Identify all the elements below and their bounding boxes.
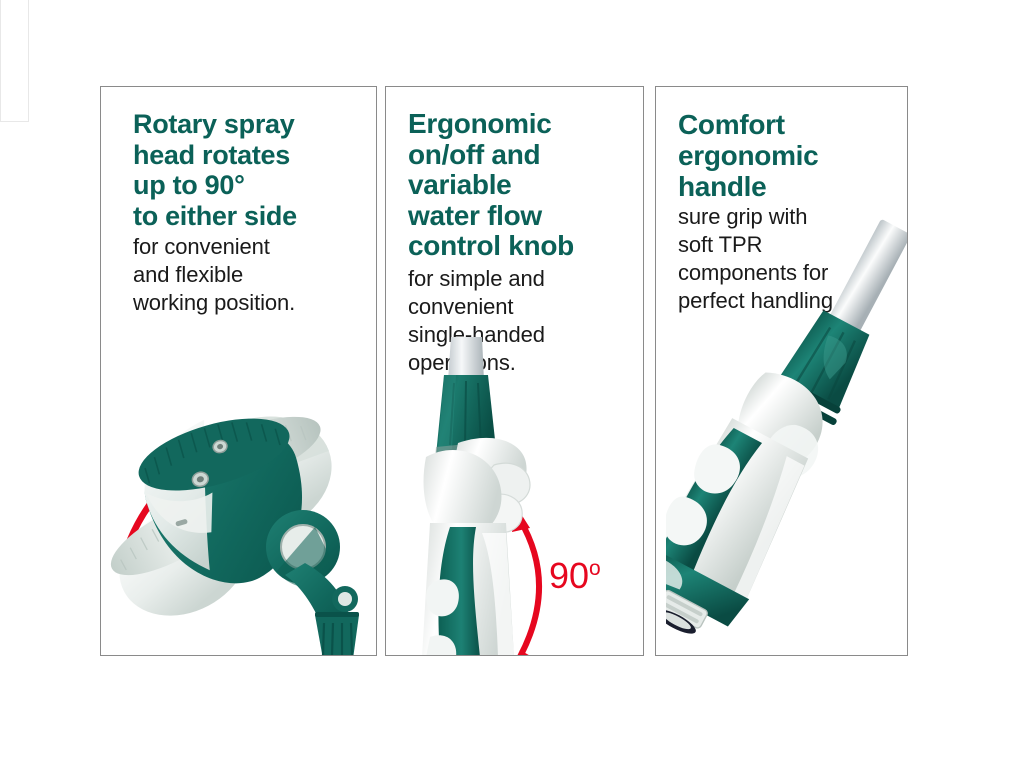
- panel-2-text-block: Ergonomic on/off and variable water flow…: [386, 87, 643, 377]
- corner-placeholder-box: [0, 0, 29, 122]
- panel-1-text-block: Rotary spray head rotates up to 90° to e…: [101, 87, 376, 317]
- feature-panel-group: Rotary spray head rotates up to 90° to e…: [100, 86, 908, 656]
- product-image-spray-head: [109, 367, 377, 656]
- product-image-flow-knob: [396, 337, 566, 656]
- feature-panel-flow-control-knob: Ergonomic on/off and variable water flow…: [385, 86, 644, 656]
- degree-symbol-icon: o: [589, 557, 601, 580]
- panel-2-headline: Ergonomic on/off and variable water flow…: [408, 109, 633, 262]
- panel-1-headline: Rotary spray head rotates up to 90° to e…: [133, 109, 366, 231]
- product-image-comfort-handle: [666, 207, 908, 656]
- panel-3-headline: Comfort ergonomic handle: [678, 109, 897, 202]
- feature-panel-rotary-spray-head: Rotary spray head rotates up to 90° to e…: [100, 86, 377, 656]
- panel-1-subtext: for convenient and flexible working posi…: [133, 233, 366, 317]
- feature-panel-comfort-handle: Comfort ergonomic handle sure grip with …: [655, 86, 908, 656]
